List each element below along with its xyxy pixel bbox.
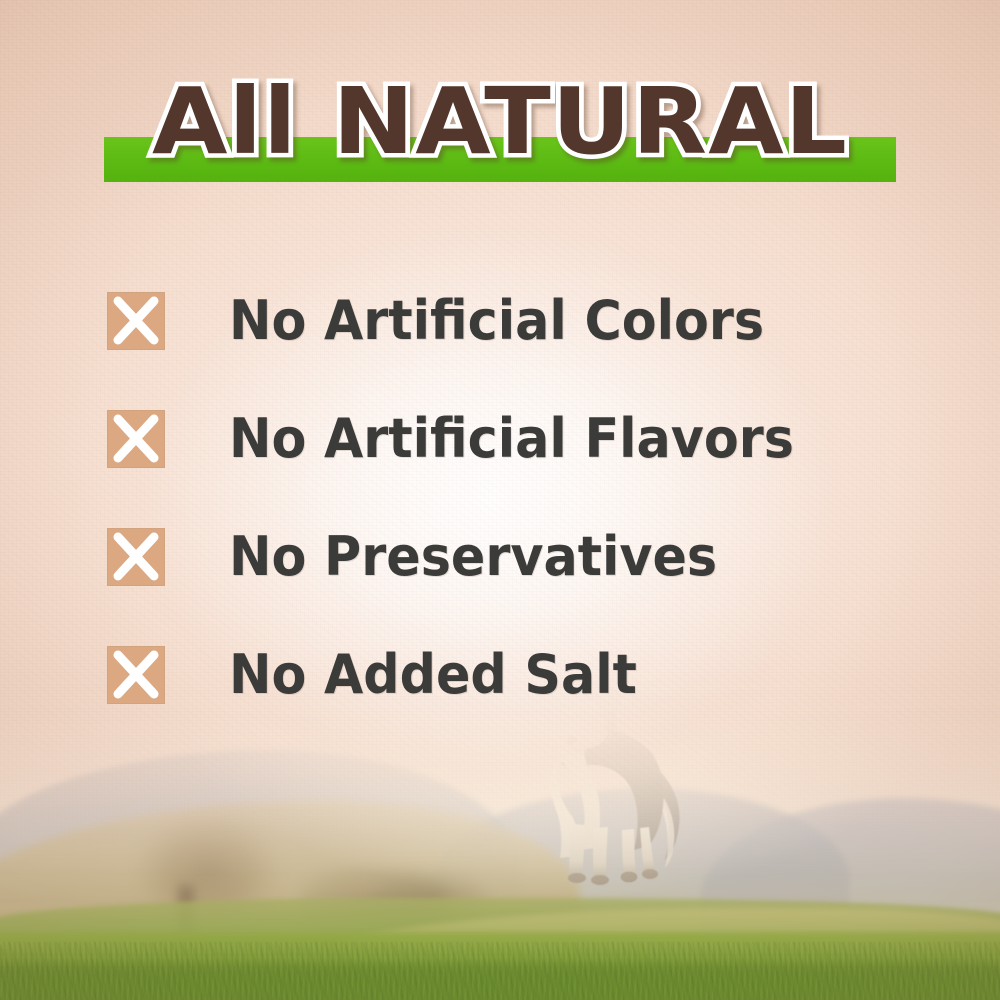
list-item-label: No Added Salt — [229, 646, 637, 704]
checkbox-no-artificial-colors[interactable] — [107, 292, 165, 350]
checkbox-no-artificial-flavors[interactable] — [107, 410, 165, 468]
x-mark-icon — [107, 646, 165, 704]
list-item: No Artificial Flavors — [107, 380, 907, 498]
x-mark-icon — [107, 528, 165, 586]
list-item: No Preservatives — [107, 498, 907, 616]
all-natural-product-feature-poster: All NATURAL No Artificial Colors No Arti… — [0, 0, 1000, 1000]
list-item-label: No Artificial Colors — [229, 292, 764, 350]
checkbox-no-added-salt[interactable] — [107, 646, 165, 704]
list-item-label: No Artificial Flavors — [229, 410, 794, 468]
checkbox-no-preservatives[interactable] — [107, 528, 165, 586]
list-item: No Added Salt — [107, 616, 907, 734]
page-title: All NATURAL — [0, 74, 1000, 170]
x-mark-icon — [107, 410, 165, 468]
list-item-label: No Preservatives — [229, 528, 717, 586]
grass-texture — [0, 942, 1000, 1000]
list-item: No Artificial Colors — [107, 262, 907, 380]
feature-checklist: No Artificial Colors No Artificial Flavo… — [107, 262, 907, 734]
x-mark-icon — [107, 292, 165, 350]
